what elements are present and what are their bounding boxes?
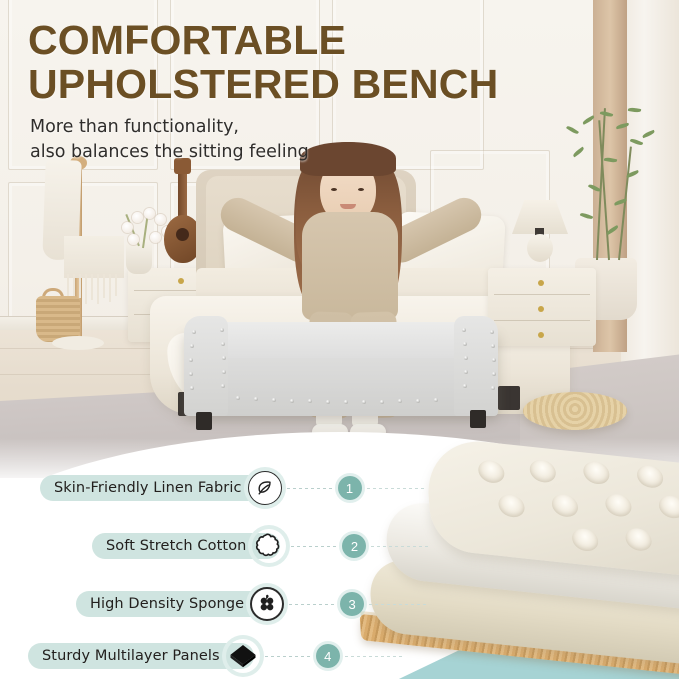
leaf-icon[interactable] xyxy=(248,471,282,505)
connector-dash-right xyxy=(367,488,427,489)
infographic-canvas: COMFORTABLE UPHOLSTERED BENCH More than … xyxy=(0,0,679,679)
subtitle-line-2: also balances the sitting feeling xyxy=(30,140,450,165)
round-pouf xyxy=(523,392,627,430)
wood-panel-icon[interactable] xyxy=(226,639,260,673)
feature-list: Skin-Friendly Linen Fabric 1 Soft Stretc… xyxy=(0,462,400,679)
macrame-hanging xyxy=(64,236,124,278)
floor-slipper xyxy=(52,336,104,350)
feature-number-3: 3 xyxy=(340,592,364,616)
feature-row: Soft Stretch Cotton 2 xyxy=(0,514,400,578)
curtain xyxy=(621,0,679,400)
woman-torso xyxy=(302,212,398,320)
connector-dash xyxy=(287,488,333,489)
feature-label: Soft Stretch Cotton xyxy=(106,538,246,554)
feature-number-1: 1 xyxy=(338,476,362,500)
sponge-four-dots-icon[interactable] xyxy=(250,587,284,621)
connector-dash xyxy=(291,546,337,547)
feature-pill[interactable]: High Density Sponge xyxy=(76,591,278,617)
table-lamp-base xyxy=(527,234,553,262)
feature-label: Skin-Friendly Linen Fabric xyxy=(54,480,242,496)
title-line-2: UPHOLSTERED BENCH xyxy=(28,62,588,106)
page-title: COMFORTABLE UPHOLSTERED BENCH xyxy=(28,18,588,107)
connector-dash xyxy=(265,656,311,657)
feature-pill[interactable]: Skin-Friendly Linen Fabric xyxy=(40,475,276,501)
connector-dash-right xyxy=(369,604,429,605)
feature-label: Sturdy Multilayer Panels xyxy=(42,648,220,664)
material-layer-stack xyxy=(398,446,679,679)
feature-number-2: 2 xyxy=(342,534,366,558)
feature-label: High Density Sponge xyxy=(90,596,244,612)
connector-dash xyxy=(289,604,335,605)
feature-row: High Density Sponge 3 xyxy=(0,578,400,630)
feature-row: Skin-Friendly Linen Fabric 1 xyxy=(0,462,400,514)
nightstand-right xyxy=(488,268,596,346)
connector-dash-right xyxy=(371,546,431,547)
subtitle-line-1: More than functionality, xyxy=(30,115,450,140)
feature-row: Sturdy Multilayer Panels 4 xyxy=(0,630,400,679)
bench-seat xyxy=(196,322,488,358)
cotton-cloud-icon[interactable] xyxy=(252,529,286,563)
feature-number-4: 4 xyxy=(316,644,340,668)
page-subtitle: More than functionality, also balances t… xyxy=(30,115,450,166)
title-line-1: COMFORTABLE xyxy=(28,17,346,63)
feature-pill[interactable]: Sturdy Multilayer Panels xyxy=(28,643,254,669)
connector-dash-right xyxy=(345,656,405,657)
